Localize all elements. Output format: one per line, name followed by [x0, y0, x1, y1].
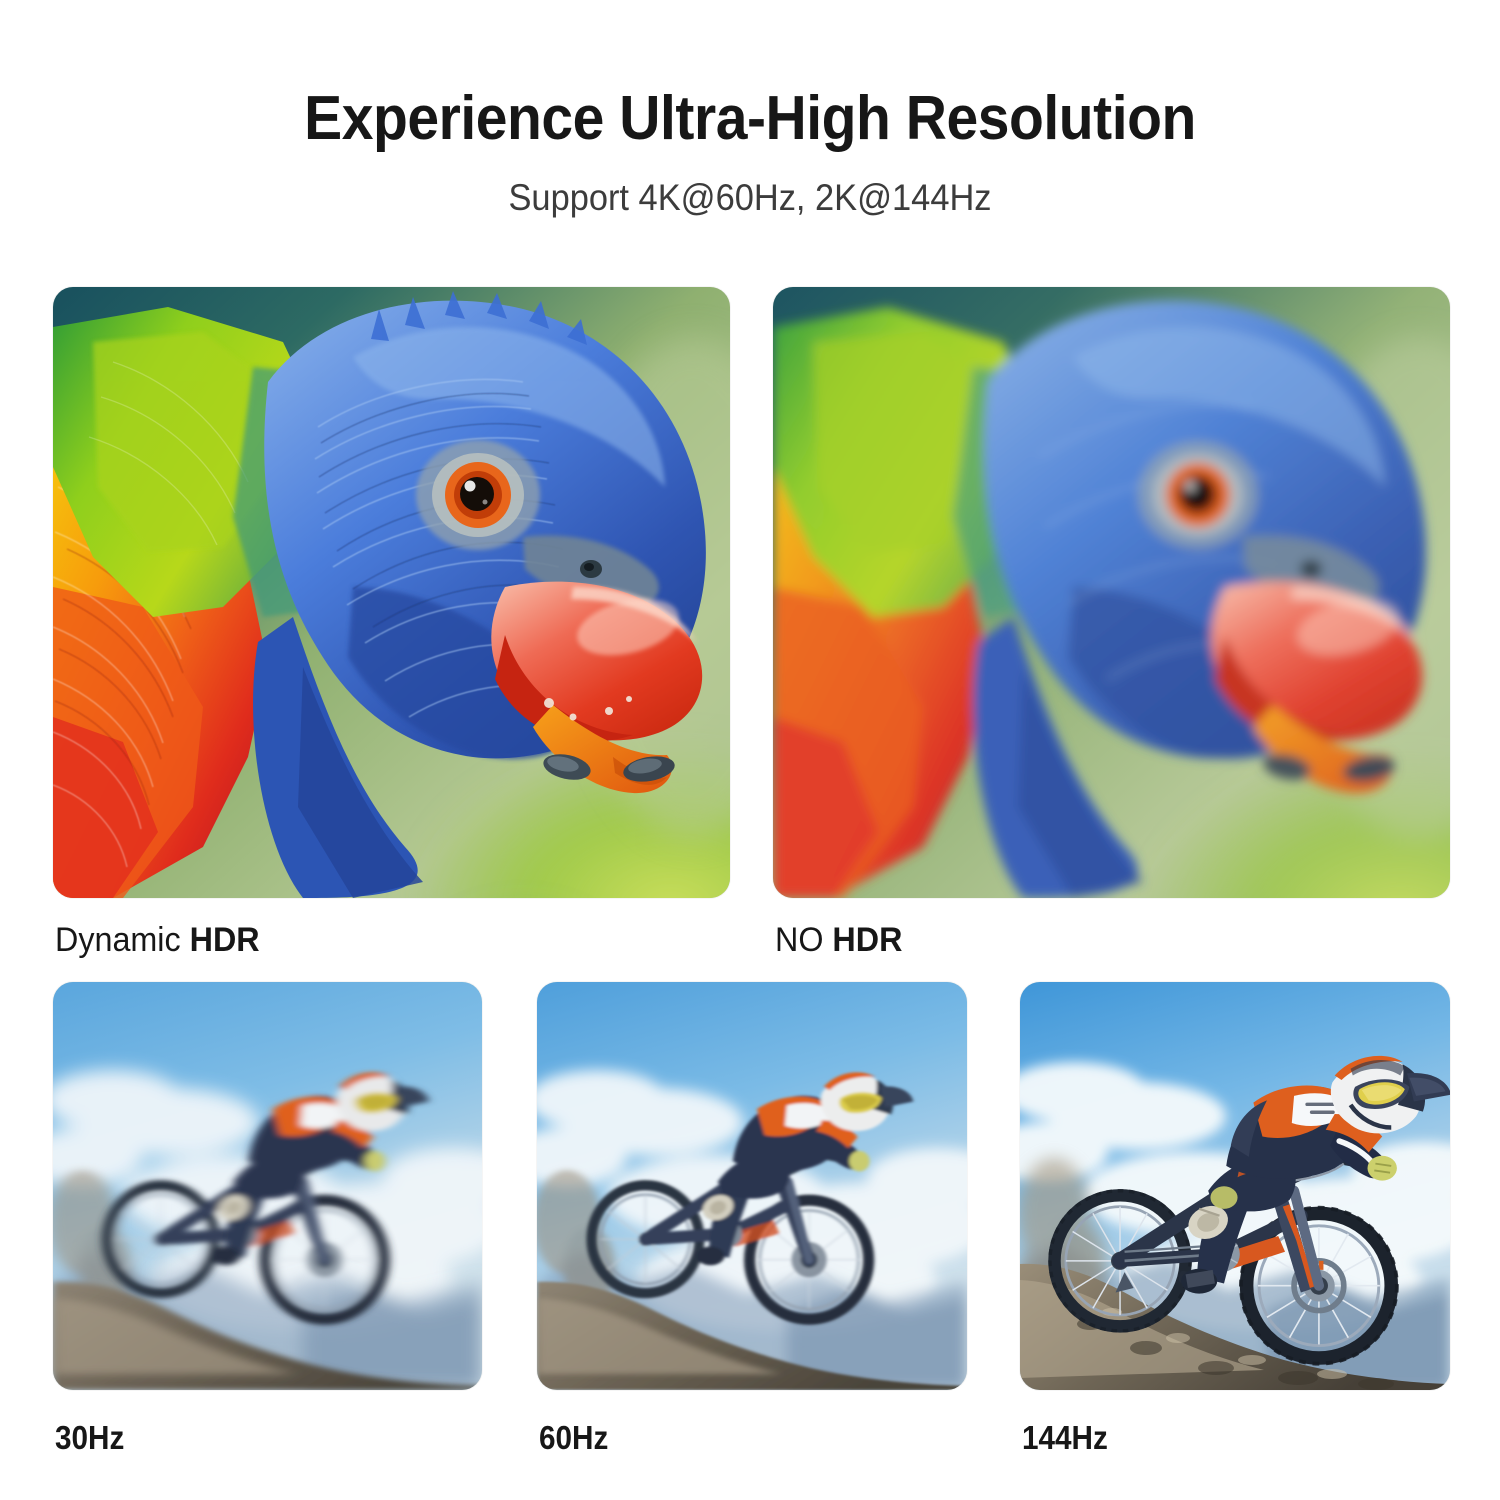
image-144hz	[1020, 982, 1450, 1390]
caption-bold: HDR	[190, 921, 260, 959]
page-subtitle: Support 4K@60Hz, 2K@144Hz	[53, 177, 1448, 219]
caption-30hz: 30Hz	[55, 1419, 124, 1457]
biker-illustration-144hz	[1020, 982, 1450, 1390]
parrot-eye	[416, 440, 540, 550]
caption-prefix: NO	[775, 921, 832, 959]
caption-bold: HDR	[832, 921, 902, 959]
biker-illustration-60hz	[537, 982, 967, 1390]
caption-dynamic-hdr: Dynamic HDR	[55, 921, 260, 960]
caption-60hz: 60Hz	[539, 1419, 608, 1457]
parrot-illustration-soft	[773, 287, 1450, 898]
image-30hz	[53, 982, 482, 1390]
page-title: Experience Ultra-High Resolution	[60, 86, 1440, 151]
caption-prefix: Dynamic	[55, 921, 190, 959]
caption-no-hdr: NO HDR	[775, 921, 902, 960]
image-dynamic-hdr	[53, 287, 730, 898]
parrot-illustration-sharp	[53, 287, 730, 898]
marketing-infographic: Experience Ultra-High Resolution Support…	[0, 0, 1500, 1500]
biker-illustration-30hz	[53, 982, 482, 1390]
header: Experience Ultra-High Resolution Support…	[0, 86, 1500, 219]
image-60hz	[537, 982, 967, 1390]
caption-144hz: 144Hz	[1022, 1419, 1108, 1457]
image-no-hdr	[773, 287, 1450, 898]
